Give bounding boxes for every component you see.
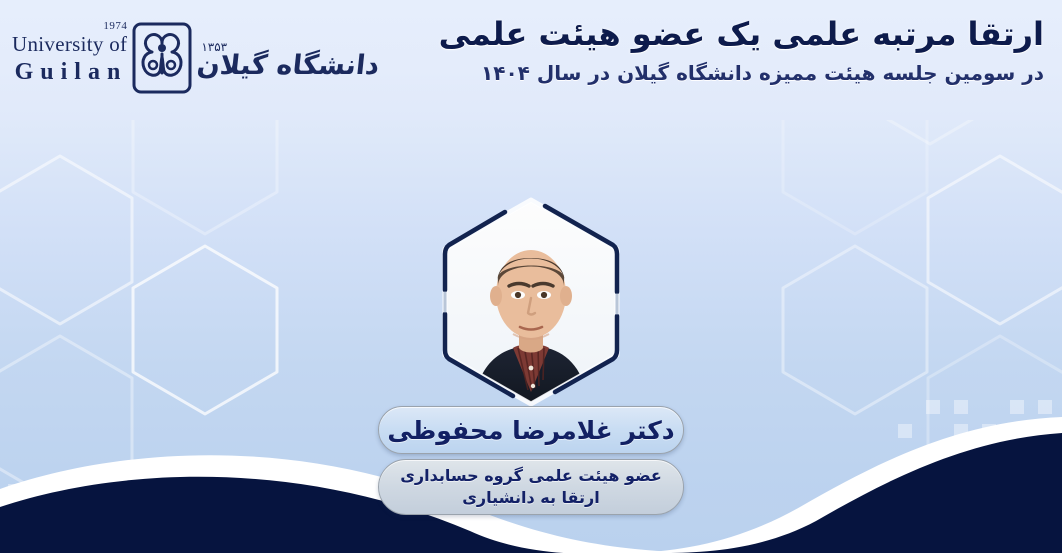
dot-matrix-left bbox=[8, 484, 91, 541]
logo-year-gregorian: 1974 bbox=[103, 21, 127, 32]
logo-name-fa: دانشگاه گیلان bbox=[196, 50, 381, 81]
logo-persian-text: ۱۳۵۳ دانشگاه گیلان bbox=[197, 40, 379, 81]
hex-outline-right-c bbox=[928, 336, 1062, 504]
faculty-member-portrait bbox=[427, 196, 635, 408]
faculty-promotion-text: ارتقا به دانشیاری bbox=[462, 489, 599, 507]
logo-name-en-line2: Guilan bbox=[15, 60, 128, 84]
faculty-department-text: عضو هیئت علمی گروه حسابداری bbox=[400, 467, 662, 485]
page-subtitle: در سومین جلسه هیئت ممیزه دانشگاه گیلان د… bbox=[444, 60, 1044, 86]
logo-name-en-line1: University of bbox=[12, 32, 127, 56]
dot-matrix-right bbox=[898, 400, 1052, 510]
university-logo: 1974 University of Guilan bbox=[12, 18, 332, 102]
wave-white-right bbox=[620, 417, 1062, 553]
wave-navy-right bbox=[660, 433, 1062, 553]
logo-english-text: 1974 University of Guilan bbox=[12, 34, 127, 86]
poster-canvas: 1974 University of Guilan bbox=[0, 0, 1062, 553]
hex-outline-left-a bbox=[0, 156, 132, 324]
hex-outline-left-c bbox=[0, 336, 132, 504]
hex-outline-right-b bbox=[783, 246, 927, 414]
hex-outline-left-b bbox=[133, 246, 277, 414]
guilan-university-emblem-icon bbox=[131, 21, 193, 99]
hex-outline-right-a bbox=[928, 156, 1062, 324]
faculty-name-badge: دکتر غلامرضا محفوظی bbox=[378, 406, 684, 454]
faculty-portrait-frame bbox=[427, 196, 635, 408]
header-bar: 1974 University of Guilan bbox=[0, 0, 1062, 120]
page-title: ارتقا مرتبه علمی یک عضو هیئت علمی bbox=[444, 14, 1044, 54]
faculty-role-badge: عضو هیئت علمی گروه حسابداری ارتقا به دان… bbox=[378, 459, 684, 515]
headline-block: ارتقا مرتبه علمی یک عضو هیئت علمی در سوم… bbox=[444, 14, 1044, 86]
faculty-name-text: دکتر غلامرضا محفوظی bbox=[387, 418, 674, 443]
